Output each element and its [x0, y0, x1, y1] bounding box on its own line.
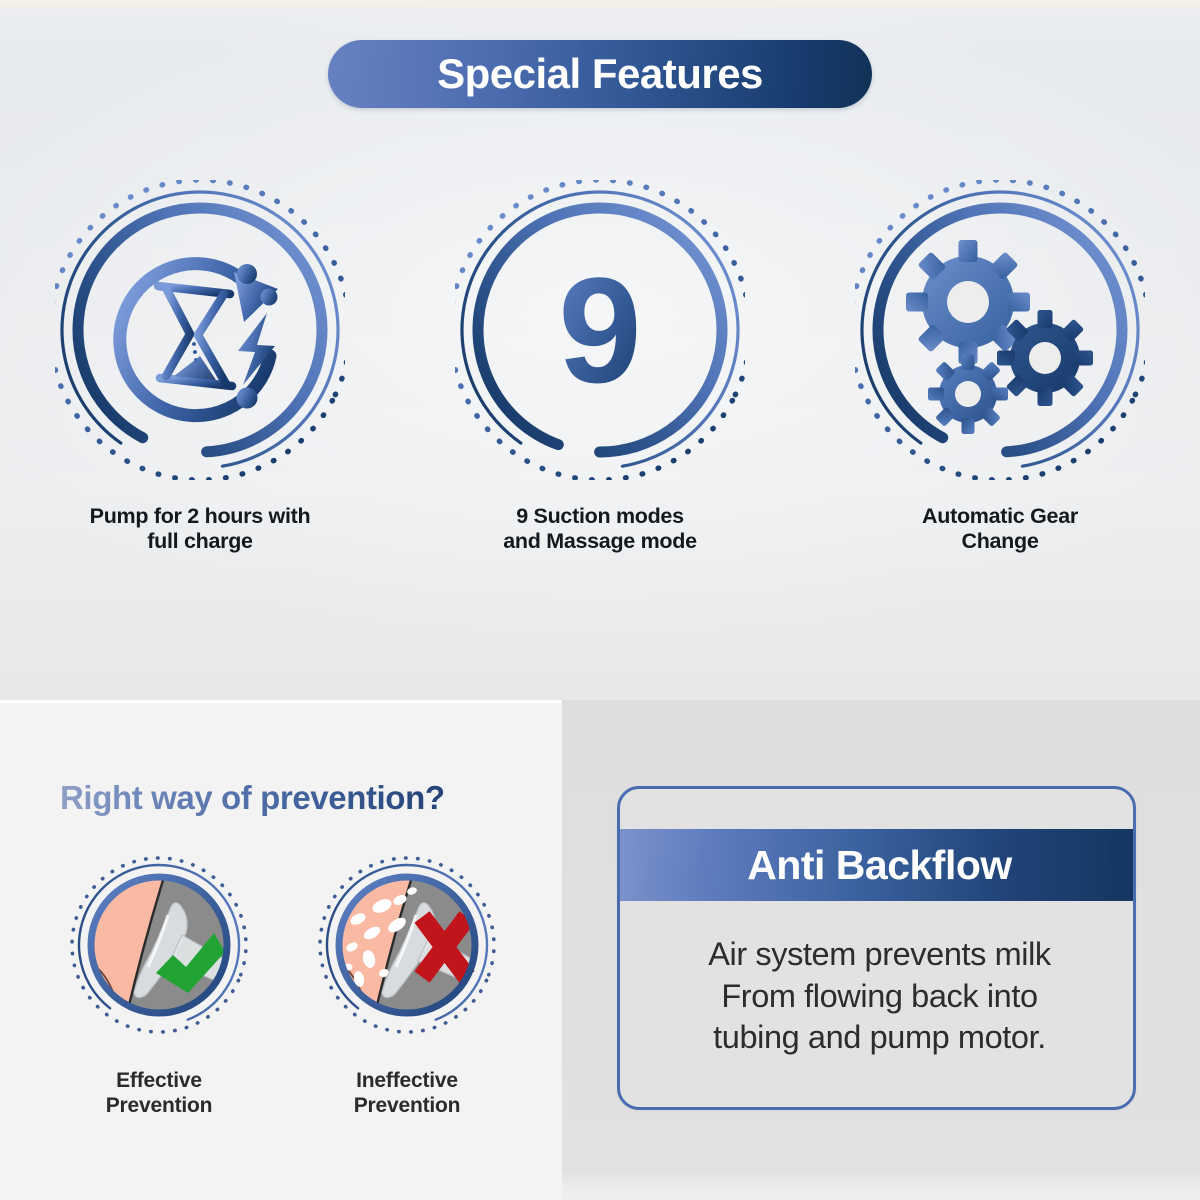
feature-caption-line1: Automatic Gear	[922, 504, 1078, 528]
ineffective-prevention-icon	[312, 855, 502, 1045]
feature-caption: Automatic Gear Change	[922, 504, 1078, 555]
number-nine-glyph: 9	[558, 246, 641, 414]
feature-item-suction-modes: 9 9 Suction modes and Massage mode	[400, 180, 800, 610]
feature-item-battery-life: Pump for 2 hours with full charge	[0, 180, 400, 610]
anti-backflow-card: Anti Backflow Air system prevents milk F…	[617, 786, 1136, 1110]
prevention-caption-line1: Ineffective	[356, 1069, 458, 1092]
anti-backflow-body-line1: Air system prevents milk	[708, 934, 1051, 976]
feature-caption-line2: Change	[922, 529, 1078, 554]
anti-backflow-body-line2: From flowing back into	[721, 976, 1037, 1018]
prevention-caption: Ineffective Prevention	[312, 1069, 502, 1119]
anti-backflow-body-line3: tubing and pump motor.	[713, 1017, 1046, 1059]
prevention-caption-line1: Effective	[116, 1069, 202, 1092]
prevention-caption: Effective Prevention	[64, 1069, 254, 1119]
gears-icon	[855, 180, 1145, 480]
feature-item-auto-gear: Automatic Gear Change	[800, 180, 1200, 610]
prevention-caption-line2: Prevention	[64, 1094, 254, 1119]
anti-backflow-body: Air system prevents milk From flowing ba…	[620, 914, 1136, 1104]
feature-caption-line2: full charge	[90, 529, 311, 554]
feature-list: Pump for 2 hours with full charge	[0, 180, 1200, 610]
prevention-item-ineffective: Ineffective Prevention	[312, 855, 502, 1119]
feature-caption-line2: and Massage mode	[503, 529, 697, 554]
special-features-section: Special Features	[0, 0, 1200, 700]
feature-caption-line1: Pump for 2 hours with	[90, 504, 311, 528]
special-features-banner: Special Features	[328, 40, 872, 108]
prevention-title: Right way of prevention?	[60, 779, 540, 823]
anti-backflow-title: Anti Backflow	[747, 845, 1012, 886]
feature-caption-line1: 9 Suction modes	[516, 504, 684, 528]
number-nine-icon: 9	[455, 180, 745, 480]
banner-title: Special Features	[437, 53, 763, 95]
effective-prevention-icon	[64, 855, 254, 1045]
prevention-item-effective: Effective Prevention	[64, 855, 254, 1119]
feature-caption: 9 Suction modes and Massage mode	[503, 504, 697, 555]
feature-caption: Pump for 2 hours with full charge	[90, 504, 311, 555]
hourglass-battery-icon	[55, 180, 345, 480]
anti-backflow-header: Anti Backflow	[620, 829, 1136, 901]
prevention-caption-line2: Prevention	[312, 1094, 502, 1119]
